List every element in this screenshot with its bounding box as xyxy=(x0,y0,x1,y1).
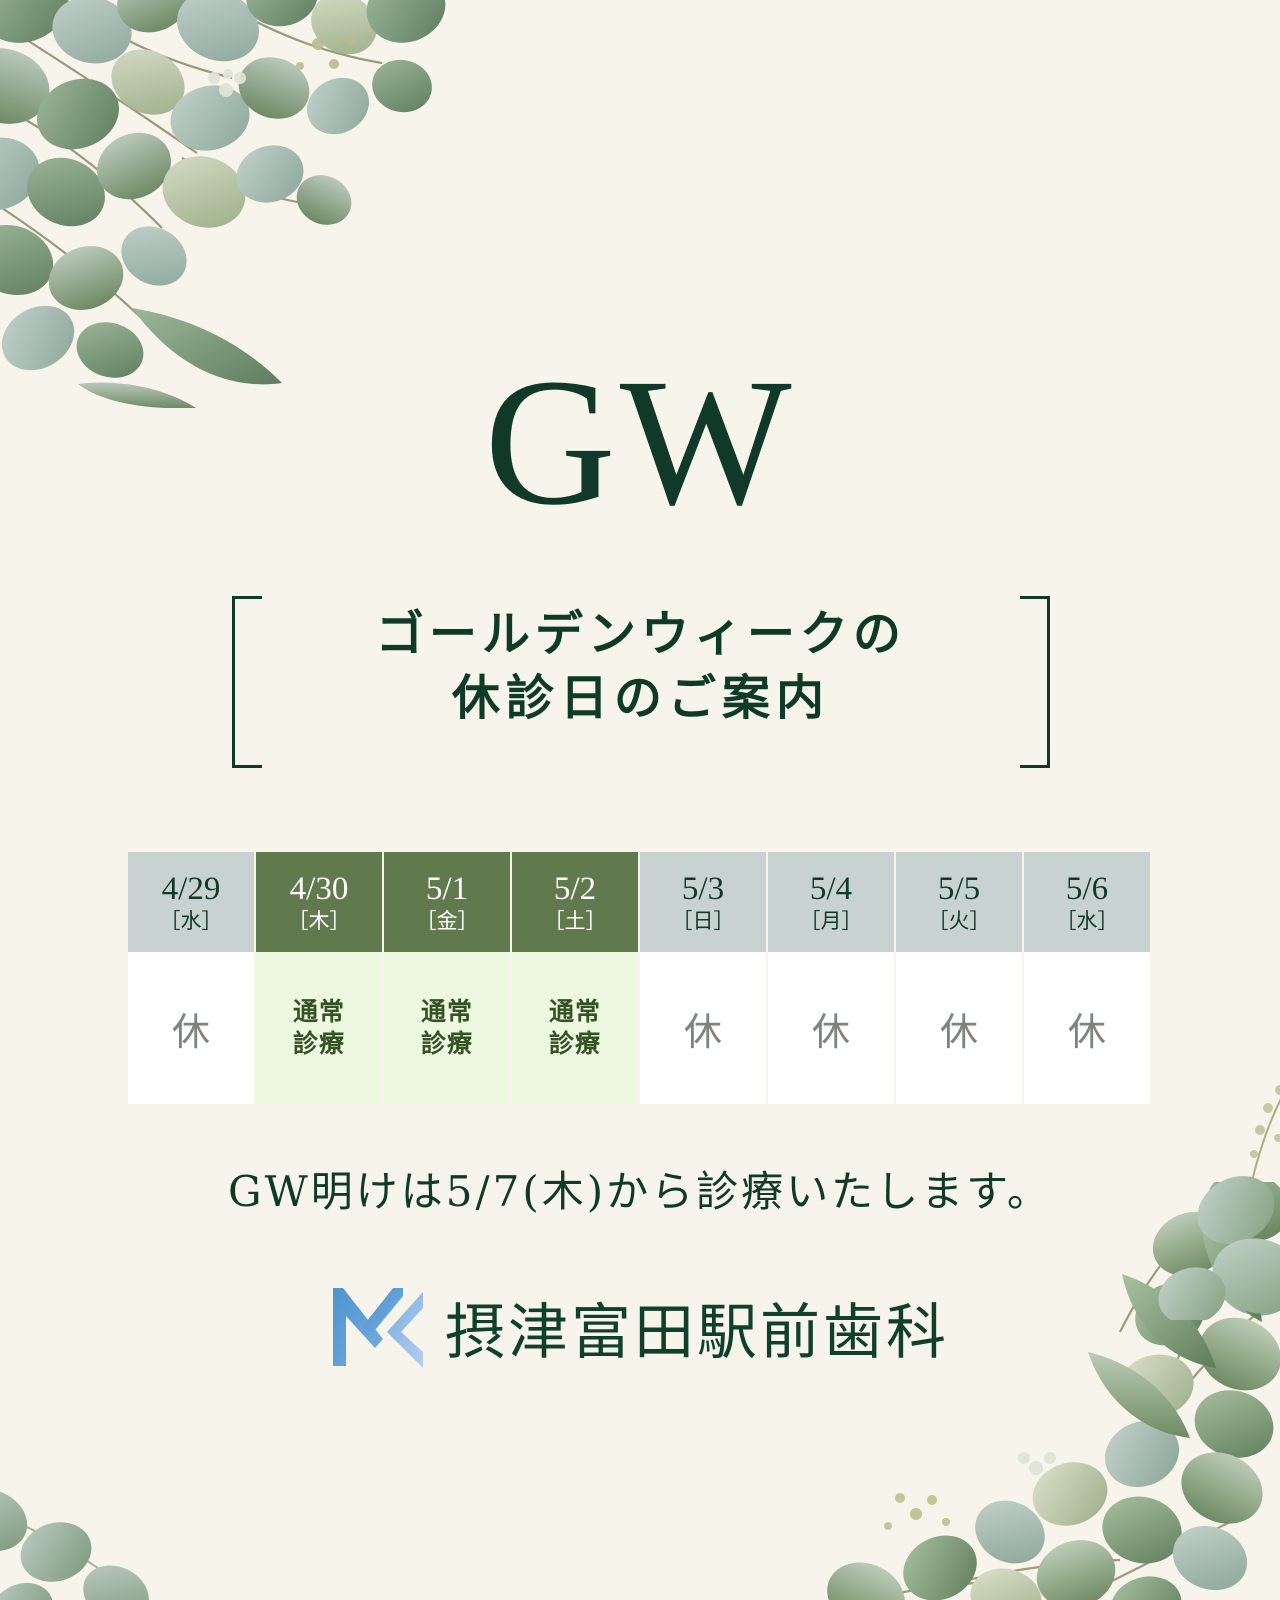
schedule-day-status: 休 xyxy=(1024,952,1150,1104)
subtitle-text: ゴールデンウィークの 休診日のご案内 xyxy=(272,602,1010,731)
schedule-day-status: 休 xyxy=(768,952,894,1104)
schedule-day-date: 5/3 xyxy=(682,872,724,907)
schedule-day-header: 5/2［土］ xyxy=(512,852,638,952)
schedule-day-date: 4/29 xyxy=(162,872,221,907)
schedule-day-weekday: ［日］ xyxy=(672,907,735,935)
schedule-day-header: 5/5［火］ xyxy=(896,852,1022,952)
schedule-status-line-2: 診療 xyxy=(293,1028,345,1060)
schedule-day-header: 5/6［水］ xyxy=(1024,852,1150,952)
eucalyptus-foliage-icon xyxy=(0,0,452,408)
schedule-day-weekday: ［土］ xyxy=(544,907,607,935)
schedule-table: 4/29［水］休4/30［木］通常診療5/1［金］通常診療5/2［土］通常診療5… xyxy=(128,852,1150,1104)
schedule-day-header: 4/30［木］ xyxy=(256,852,382,952)
schedule-day-column: 4/30［木］通常診療 xyxy=(256,852,382,1104)
eucalyptus-sprig-icon xyxy=(0,1460,220,1600)
schedule-day-date: 5/4 xyxy=(810,872,852,907)
bracket-right-decoration xyxy=(1020,596,1050,768)
schedule-status-line-1: 通常 xyxy=(421,996,473,1028)
subtitle-line-1: ゴールデンウィークの xyxy=(272,602,1010,666)
schedule-day-date: 5/2 xyxy=(554,872,596,907)
schedule-day-status: 通常診療 xyxy=(384,952,510,1104)
clinic-name: 摂津富田駅前歯科 xyxy=(445,1284,949,1371)
schedule-status-line-2: 診療 xyxy=(421,1028,473,1060)
schedule-day-date: 5/5 xyxy=(938,872,980,907)
schedule-day-date: 4/30 xyxy=(290,872,349,907)
schedule-day-column: 5/1［金］通常診療 xyxy=(384,852,510,1104)
schedule-day-status: 通常診療 xyxy=(256,952,382,1104)
schedule-day-weekday: ［金］ xyxy=(416,907,479,935)
schedule-day-status: 休 xyxy=(128,952,254,1104)
poster-canvas: GW ゴールデンウィークの 休診日のご案内 4/29［水］休4/30［木］通常診… xyxy=(0,0,1280,1600)
schedule-day-weekday: ［木］ xyxy=(288,907,351,935)
schedule-status-line-1: 通常 xyxy=(549,996,601,1028)
eucalyptus-foliage-icon xyxy=(770,1182,1280,1600)
bracket-left-decoration xyxy=(232,596,262,768)
brand-footer: 摂津富田駅前歯科 xyxy=(0,1282,1280,1373)
schedule-day-header: 5/3［日］ xyxy=(640,852,766,952)
page-title: GW xyxy=(0,352,1280,534)
schedule-status-line-1: 通常 xyxy=(293,996,345,1028)
schedule-day-header: 4/29［水］ xyxy=(128,852,254,952)
mk-monogram-icon xyxy=(331,1282,427,1373)
schedule-day-date: 5/1 xyxy=(426,872,468,907)
reopen-note: GW明けは5/7(木)から診療いたします。 xyxy=(0,1158,1280,1219)
schedule-day-weekday: ［水］ xyxy=(160,907,223,935)
schedule-day-column: 5/5［火］休 xyxy=(896,852,1022,1104)
schedule-day-column: 5/4［月］休 xyxy=(768,852,894,1104)
schedule-day-date: 5/6 xyxy=(1066,872,1108,907)
schedule-status-line-2: 診療 xyxy=(549,1028,601,1060)
schedule-day-status: 休 xyxy=(640,952,766,1104)
schedule-day-header: 5/1［金］ xyxy=(384,852,510,952)
schedule-day-column: 5/2［土］通常診療 xyxy=(512,852,638,1104)
schedule-day-column: 5/3［日］休 xyxy=(640,852,766,1104)
schedule-day-status: 休 xyxy=(896,952,1022,1104)
schedule-day-weekday: ［水］ xyxy=(1056,907,1119,935)
schedule-day-header: 5/4［月］ xyxy=(768,852,894,952)
subtitle-line-2: 休診日のご案内 xyxy=(272,666,1010,730)
schedule-day-weekday: ［月］ xyxy=(800,907,863,935)
schedule-day-column: 5/6［水］休 xyxy=(1024,852,1150,1104)
schedule-day-column: 4/29［水］休 xyxy=(128,852,254,1104)
schedule-day-weekday: ［火］ xyxy=(928,907,991,935)
schedule-day-status: 通常診療 xyxy=(512,952,638,1104)
subtitle-block: ゴールデンウィークの 休診日のご案内 xyxy=(232,596,1050,768)
